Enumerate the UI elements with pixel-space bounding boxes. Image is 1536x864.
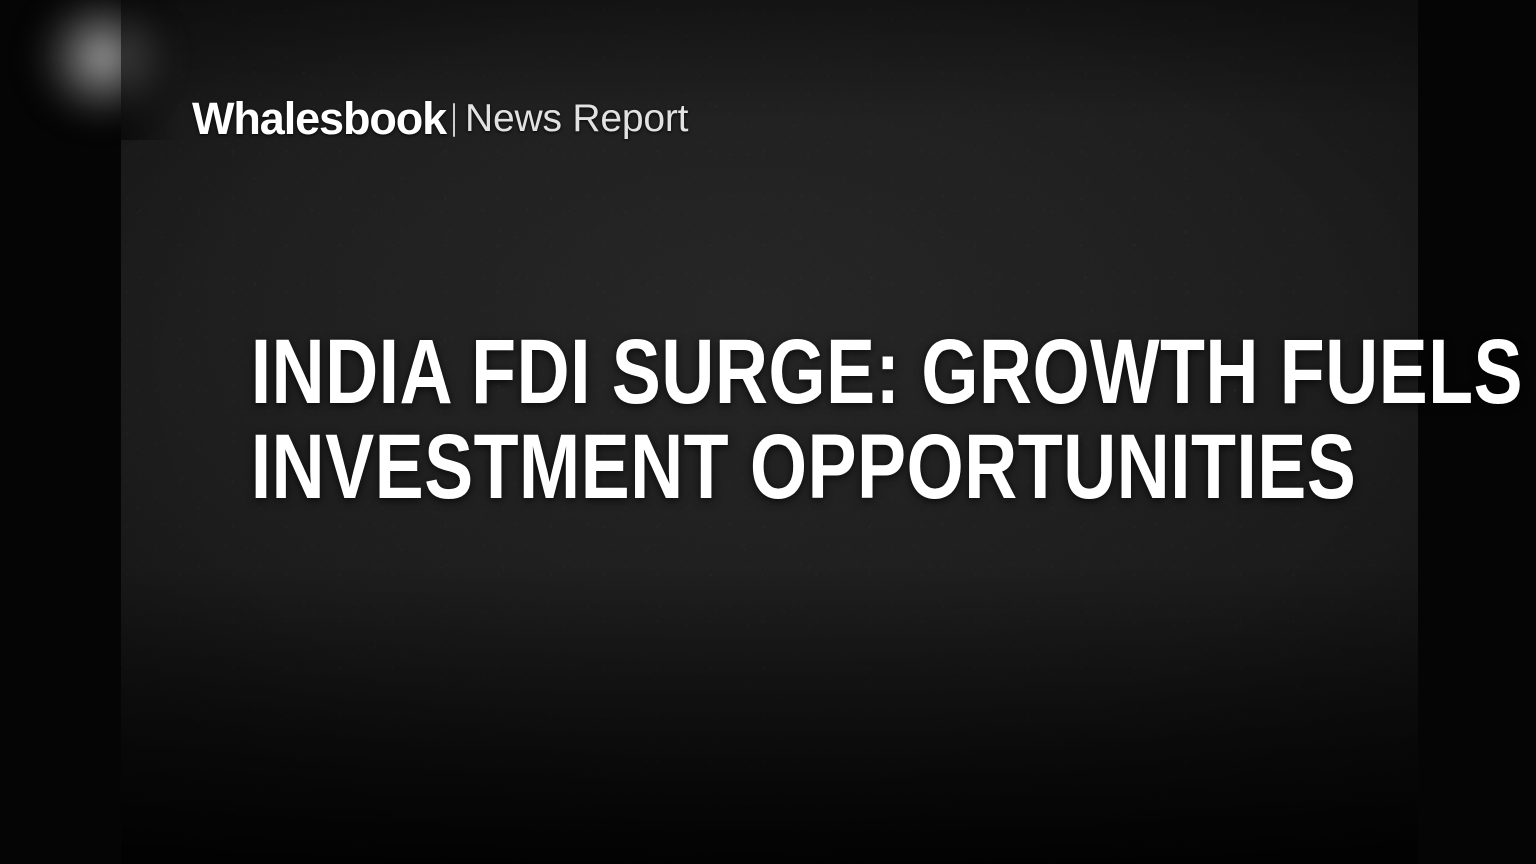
- headline-line-2: INVESTMENT OPPORTUNITIES: [251, 420, 1289, 515]
- brand-divider-icon: [453, 103, 455, 137]
- news-report-card: Whalesbook News Report INDIA FDI SURGE: …: [0, 0, 1536, 864]
- headline-line-1: INDIA FDI SURGE: GROWTH FUELS NEW: [251, 325, 1289, 420]
- brand-subtitle: News Report: [465, 99, 688, 138]
- brand-lockup[interactable]: Whalesbook News Report: [192, 96, 688, 141]
- brand-name: Whalesbook: [192, 96, 446, 141]
- panel-bottom-shadow: [121, 564, 1418, 864]
- headline: INDIA FDI SURGE: GROWTH FUELS NEW INVEST…: [121, 325, 1418, 515]
